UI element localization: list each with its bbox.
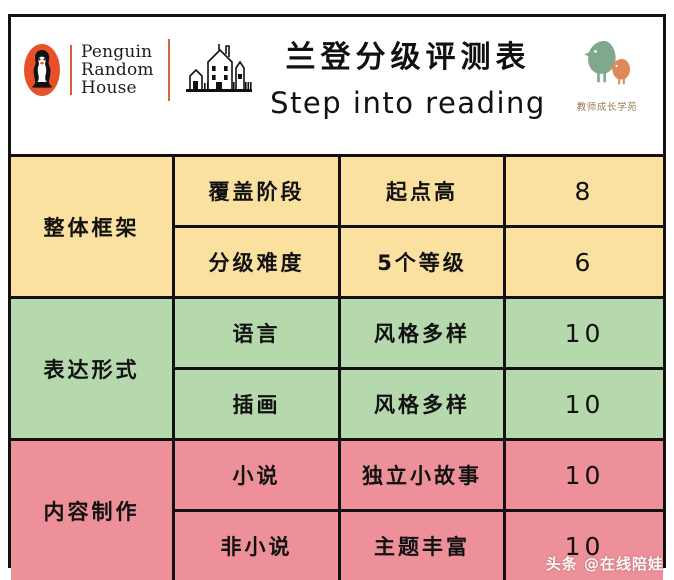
brand-label: 教师成长学苑	[559, 99, 655, 113]
brand-logo: 教师成长学苑	[559, 35, 655, 113]
table-row: 覆盖阶段 起点高 8	[175, 157, 663, 228]
table-header: Penguin Random House	[11, 17, 663, 157]
category-label: 整体框架	[11, 157, 175, 296]
watermark: 头条 @在线陪娃	[546, 553, 664, 574]
logo-divider	[70, 45, 72, 95]
description-cell: 风格多样	[341, 370, 506, 438]
publisher-line-3: House	[81, 80, 154, 97]
two-birds-icon	[570, 35, 644, 97]
score-cell: 10	[506, 299, 663, 367]
logo-divider-2	[168, 39, 170, 101]
criteria-band: 表达形式 语言 风格多样 10 插画 风格多样 10	[11, 299, 663, 441]
description-cell: 起点高	[341, 157, 506, 225]
publisher-line-2: Random	[81, 62, 154, 79]
score-cell: 10	[506, 370, 663, 438]
aspect-cell: 插画	[175, 370, 341, 438]
band-rows: 覆盖阶段 起点高 8 分级难度 5个等级 6	[175, 157, 663, 296]
criteria-band: 整体框架 覆盖阶段 起点高 8 分级难度 5个等级 6	[11, 157, 663, 299]
description-cell: 独立小故事	[341, 441, 506, 509]
rating-table: Penguin Random House	[8, 14, 666, 568]
criteria-grid: 整体框架 覆盖阶段 起点高 8 分级难度 5个等级 6 表达形式	[11, 157, 663, 580]
title-block: 兰登分级评测表 Step into reading	[243, 35, 573, 125]
page-title-cn: 兰登分级评测表	[243, 35, 573, 81]
aspect-cell: 分级难度	[175, 228, 341, 296]
aspect-cell: 覆盖阶段	[175, 157, 341, 225]
description-cell: 风格多样	[341, 299, 506, 367]
aspect-cell: 小说	[175, 441, 341, 509]
page-title-en: Step into reading	[243, 81, 573, 125]
table-row: 插画 风格多样 10	[175, 370, 663, 438]
score-cell: 10	[506, 441, 663, 509]
aspect-cell: 非小说	[175, 512, 341, 580]
table-row: 分级难度 5个等级 6	[175, 228, 663, 296]
description-cell: 主题丰富	[341, 512, 506, 580]
category-label: 内容制作	[11, 441, 175, 580]
logo-group: Penguin Random House	[23, 39, 254, 101]
aspect-cell: 语言	[175, 299, 341, 367]
score-cell: 8	[506, 157, 663, 225]
score-cell: 6	[506, 228, 663, 296]
description-cell: 5个等级	[341, 228, 506, 296]
penguin-random-house-logo: Penguin Random House	[23, 43, 154, 98]
publisher-wordmark: Penguin Random House	[81, 43, 154, 98]
publisher-line-1: Penguin	[81, 44, 154, 61]
category-label: 表达形式	[11, 299, 175, 438]
penguin-icon	[23, 43, 61, 97]
table-row: 语言 风格多样 10	[175, 299, 663, 370]
table-row: 小说 独立小故事 10	[175, 441, 663, 512]
screenshot-root: Penguin Random House	[0, 0, 674, 580]
band-rows: 语言 风格多样 10 插画 风格多样 10	[175, 299, 663, 438]
